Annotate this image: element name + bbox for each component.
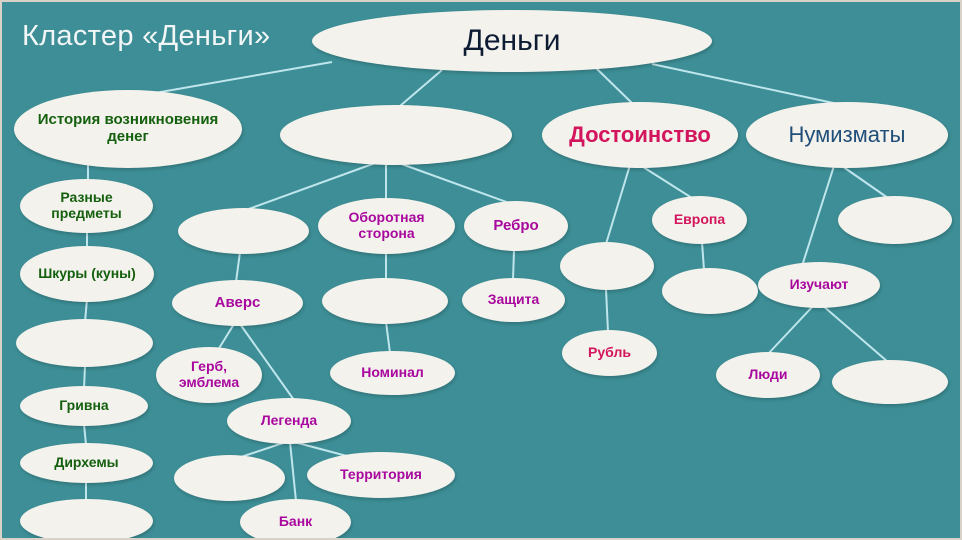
edge-grivna-to-dirhams: [84, 424, 86, 445]
edge-money-to-hub-coin: [400, 70, 442, 106]
edge-averse-to-coat-of-arms: [218, 324, 234, 350]
node-label-edge-rib: Ребро: [489, 218, 542, 235]
node-label-ruble: Рубль: [584, 345, 635, 361]
node-label-bank: Банк: [275, 514, 316, 530]
edge-money-to-dignity: [596, 68, 634, 105]
node-hub-study-right[interactable]: [832, 360, 948, 404]
edge-dignity-to-europe: [640, 165, 692, 198]
node-history[interactable]: История возникновения денег: [14, 90, 242, 168]
node-label-grivna: Гривна: [55, 398, 112, 414]
node-label-legend: Легенда: [257, 413, 321, 429]
node-coat-of-arms[interactable]: Герб, эмблема: [156, 347, 262, 403]
node-label-territory: Территория: [336, 467, 426, 483]
node-reverse-side[interactable]: Оборотная сторона: [318, 198, 455, 254]
edge-numismatists-to-study: [802, 166, 834, 266]
cluster-diagram-slide: Кластер «Деньги» ДеньгиИстория возникнов…: [0, 0, 962, 540]
node-label-study: Изучают: [786, 277, 853, 293]
node-europe[interactable]: Европа: [652, 196, 747, 244]
edge-hub-averse-to-averse: [236, 252, 240, 282]
node-territory[interactable]: Территория: [307, 452, 455, 498]
node-label-hides-kuny: Шкуры (куны): [34, 266, 140, 282]
node-label-averse: Аверс: [211, 295, 265, 312]
edge-hub-nominal-to-nominal: [386, 322, 390, 353]
node-hub-numis-right[interactable]: [838, 196, 952, 244]
node-protection[interactable]: Защита: [462, 278, 565, 322]
node-hides-kuny[interactable]: Шкуры (куны): [20, 246, 154, 302]
node-label-money: Деньги: [460, 24, 565, 58]
node-ruble[interactable]: Рубль: [562, 330, 657, 376]
node-label-nominal: Номинал: [357, 365, 428, 381]
node-label-numismatists: Нумизматы: [785, 123, 910, 148]
node-bank[interactable]: Банк: [240, 499, 351, 540]
edge-hub-ruble-to-ruble: [606, 289, 608, 332]
node-hub-grivna[interactable]: [16, 319, 153, 367]
node-label-people: Люди: [744, 367, 791, 383]
edge-numismatists-to-hub-numis-right: [842, 166, 888, 198]
node-hub-legend-left[interactable]: [174, 455, 285, 501]
edge-europe-to-hub-study: [702, 242, 704, 270]
node-hub-averse[interactable]: [178, 208, 309, 254]
node-label-dirhams: Дирхемы: [50, 455, 122, 471]
page-title: Кластер «Деньги»: [22, 20, 270, 53]
edge-hub-coin-to-edge-rib: [396, 162, 512, 204]
node-hub-nominal[interactable]: [322, 278, 448, 324]
node-label-history: История возникновения денег: [14, 112, 242, 146]
node-label-dignity: Достоинство: [565, 123, 715, 148]
node-dignity[interactable]: Достоинство: [542, 102, 738, 168]
node-edge-rib[interactable]: Ребро: [464, 201, 568, 251]
edge-legend-to-bank: [290, 442, 296, 501]
node-study[interactable]: Изучают: [758, 262, 880, 308]
node-grivna[interactable]: Гривна: [20, 386, 148, 426]
node-legend[interactable]: Легенда: [227, 398, 351, 444]
node-hub-dirham-bottom[interactable]: [20, 499, 153, 540]
node-label-europe: Европа: [670, 212, 729, 228]
node-averse[interactable]: Аверс: [172, 280, 303, 326]
node-label-reverse-side: Оборотная сторона: [318, 210, 455, 241]
node-people[interactable]: Люди: [716, 352, 820, 398]
node-hub-ruble[interactable]: [560, 242, 654, 290]
node-hub-study[interactable]: [662, 268, 758, 314]
node-label-various-objects: Разные предметы: [20, 190, 153, 221]
edge-dignity-to-hub-ruble: [606, 165, 630, 244]
node-nominal[interactable]: Номинал: [330, 351, 455, 395]
node-hub-coin[interactable]: [280, 105, 512, 165]
edge-study-to-hub-study-right: [822, 305, 888, 362]
node-dirhams[interactable]: Дирхемы: [20, 443, 153, 483]
edge-edge-rib-to-protection: [513, 250, 514, 280]
node-label-coat-of-arms: Герб, эмблема: [156, 359, 262, 390]
edge-money-to-numismatists: [652, 64, 838, 104]
node-label-protection: Защита: [484, 292, 544, 308]
edge-study-to-people: [768, 305, 814, 354]
node-various-objects[interactable]: Разные предметы: [20, 179, 153, 233]
node-numismatists[interactable]: Нумизматы: [746, 102, 948, 168]
node-money[interactable]: Деньги: [312, 10, 712, 72]
